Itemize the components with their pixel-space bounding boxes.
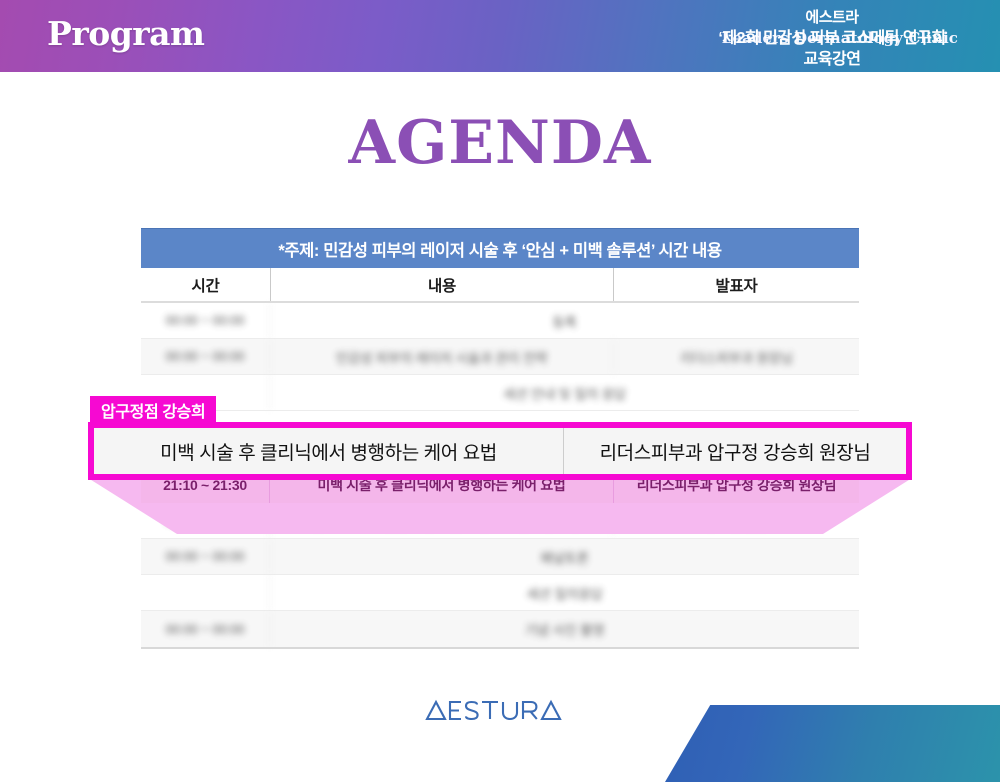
row-time [141,575,270,610]
footer-banner [665,705,1000,782]
table-header-row: 시간 내용 발표자 [141,268,859,303]
footer-banner-text: 에스트라 ‘제2회 민감성 피부 코스메틱 연구회 교육강연 [672,8,992,70]
row-time: 00:00 ~ 00:00 [141,611,270,647]
row-content: 민감성 피부의 레이저 시술과 관리 전략 [270,339,614,374]
row-time: 00:00 ~ 00:00 [141,539,270,574]
footer-line-2: ‘제2회 민감성 피부 코스메틱 연구회 [672,28,992,49]
table-row: 00:00 ~ 00:00 민감성 피부의 레이저 시술과 관리 전략 리더스피… [141,339,859,375]
table-bottom-border [141,647,859,649]
row-content: 세션 안내 및 질의 응답 [270,375,859,410]
table-subject-banner: *주제: 민감성 피부의 레이저 시술 후 ‘안심 + 미백 솔루션’ 시간 내… [141,228,859,268]
callout-speaker-text: 리더스피부과 압구정 강승희 원장님 [564,428,906,474]
aestura-logo-wordmark [425,698,575,724]
table-row: 세션 질의응답 [141,575,859,611]
row-content: 기념 사진 촬영 [270,611,859,647]
slide-header-title: Program [47,14,204,53]
row-content: 등록 [270,303,859,338]
column-header-content: 내용 [270,268,614,301]
row-speaker: 리더스피부과 원장님 [614,339,859,374]
callout-box-inner: 미백 시술 후 클리닉에서 병행하는 케어 요법 리더스피부과 압구정 강승희 … [94,428,906,474]
column-header-speaker: 발표자 [614,268,859,301]
callout-content-text: 미백 시술 후 클리닉에서 병행하는 케어 요법 [94,428,564,474]
callout-box: 미백 시술 후 클리닉에서 병행하는 케어 요법 리더스피부과 압구정 강승희 … [88,422,912,480]
row-content: 패널토론 [270,539,859,574]
column-header-time: 시간 [141,268,270,301]
row-time: 00:00 ~ 00:00 [141,339,270,374]
footer-line-1: 에스트라 [672,8,992,28]
table-row: 세션 안내 및 질의 응답 [141,375,859,411]
row-content: 세션 질의응답 [270,575,859,610]
table-row: 00:00 ~ 00:00 기념 사진 촬영 [141,611,859,647]
table-row: 00:00 ~ 00:00 패널토론 [141,539,859,575]
footer-line-3: 교육강연 [672,49,992,70]
callout-tag-label: 압구정점 강승희 [90,396,216,423]
page-title: AGENDA [0,108,1000,178]
table-row: 00:00 ~ 00:00 등록 [141,303,859,339]
row-time: 00:00 ~ 00:00 [141,303,270,338]
